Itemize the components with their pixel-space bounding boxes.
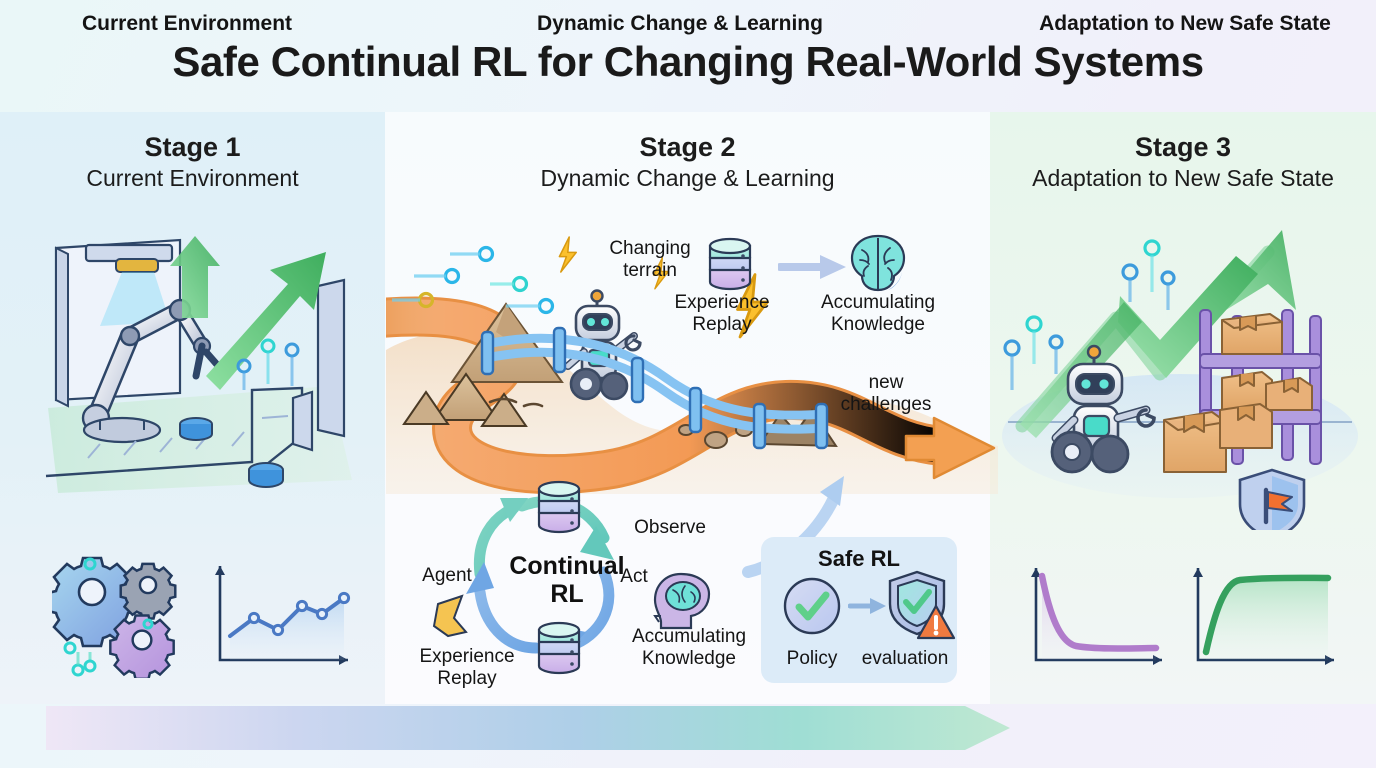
stage-2-number: Stage 2 bbox=[385, 132, 990, 162]
policy-label: Policy bbox=[775, 648, 849, 670]
stage-3-header: Stage 3 Adaptation to New Safe State bbox=[990, 132, 1376, 193]
stage-3-scene bbox=[1000, 218, 1370, 530]
accumulating-knowledge-label-top: Accumulating Knowledge bbox=[800, 292, 956, 337]
evaluation-label: evaluation bbox=[852, 648, 958, 670]
stage-3-reward-chart bbox=[1184, 560, 1344, 680]
stage-3-cost-chart bbox=[1020, 560, 1170, 680]
stage-1-subtitle: Current Environment bbox=[0, 165, 385, 193]
safe-rl-connector-arrow-icon bbox=[848, 595, 888, 617]
changing-terrain-label: Changing terrain bbox=[604, 238, 696, 283]
check-circle-icon bbox=[781, 575, 843, 637]
arrow-right-icon bbox=[778, 252, 850, 282]
gears-icon bbox=[52, 552, 192, 678]
cycle-database-top-icon bbox=[533, 477, 585, 535]
database-icon bbox=[704, 234, 756, 292]
stage-1-header: Stage 1 Current Environment bbox=[0, 132, 385, 193]
agent-label: Agent bbox=[412, 565, 482, 587]
banner-label-dynamic-change: Dynamic Change & Learning bbox=[450, 0, 910, 48]
stage-2-terrain-scene bbox=[386, 232, 1006, 502]
stage-2-header: Stage 2 Dynamic Change & Learning bbox=[385, 132, 990, 193]
brain-head-icon bbox=[651, 570, 713, 632]
experience-replay-label-cycle: Experience Replay bbox=[404, 646, 530, 691]
stage-1-number: Stage 1 bbox=[0, 132, 385, 162]
shield-warning-icon bbox=[884, 568, 956, 640]
observe-label: Observe bbox=[620, 517, 720, 539]
banner-label-current-environment: Current Environment bbox=[56, 0, 382, 48]
new-challenges-label: new challenges bbox=[820, 372, 952, 417]
stage-1-line-chart bbox=[208, 560, 356, 676]
brain-icon bbox=[844, 232, 912, 294]
stage-3-number: Stage 3 bbox=[990, 132, 1376, 162]
cycle-database-bottom-icon bbox=[533, 618, 585, 676]
experience-replay-label-top: Experience Replay bbox=[652, 292, 792, 337]
act-label: Act bbox=[608, 566, 660, 588]
banner-label-adaptation: Adaptation to New Safe State bbox=[1000, 0, 1370, 48]
accumulating-knowledge-label-cycle: Accumulating Knowledge bbox=[612, 626, 766, 671]
stage-3-subtitle: Adaptation to New Safe State bbox=[990, 165, 1376, 193]
progress-banner-arrow bbox=[0, 704, 1376, 752]
stage-1-scene bbox=[30, 218, 370, 503]
stage-2-subtitle: Dynamic Change & Learning bbox=[385, 165, 990, 193]
